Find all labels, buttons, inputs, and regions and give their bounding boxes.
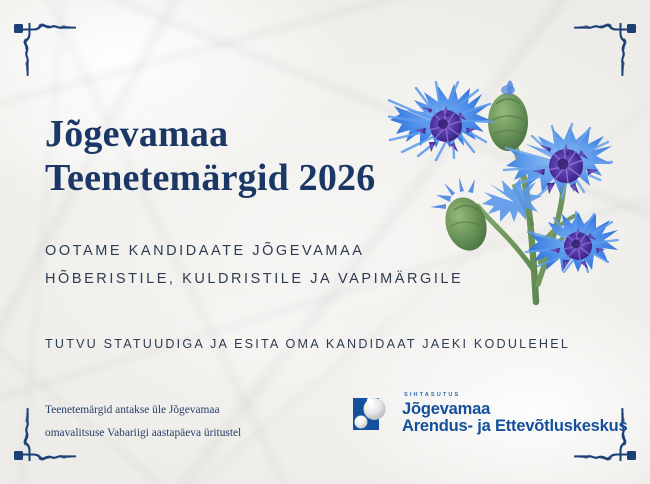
cornflower-petal-cluster xyxy=(482,178,542,222)
logo-wordmark: SIHTASUTUS Jõgevamaa Arendus- ja Ettevõt… xyxy=(402,393,627,435)
logo-kicker: SIHTASUTUS xyxy=(404,393,627,399)
cornflower-bloom-1 xyxy=(388,82,492,160)
logo-line-2: Arendus- ja Ettevõtluskeskus xyxy=(402,418,627,435)
subheading-text: OOTAME KANDIDAATE JÕGEVAMAA HÕBERISTILE,… xyxy=(45,237,463,294)
organisation-logo[interactable]: SIHTASUTUS Jõgevamaa Arendus- ja Ettevõt… xyxy=(350,392,627,436)
footnote-text: Teenetemärgid antakse üle Jõgevamaa omav… xyxy=(45,399,241,446)
page-title: Jõgevamaa Teenetemärgid 2026 xyxy=(45,112,375,200)
flower-bud-upper xyxy=(488,80,528,151)
logo-line-1: Jõgevamaa xyxy=(402,401,627,418)
bubbles-logo-mark-icon xyxy=(350,392,394,436)
corner-flourish-icon-top-left xyxy=(12,12,90,90)
call-to-action-text: TUTVU STATUUDIGA JA ESITA OMA KANDIDAAT … xyxy=(45,337,570,351)
poster-canvas: Jõgevamaa Teenetemärgid 2026 OOTAME KAND… xyxy=(0,0,650,484)
